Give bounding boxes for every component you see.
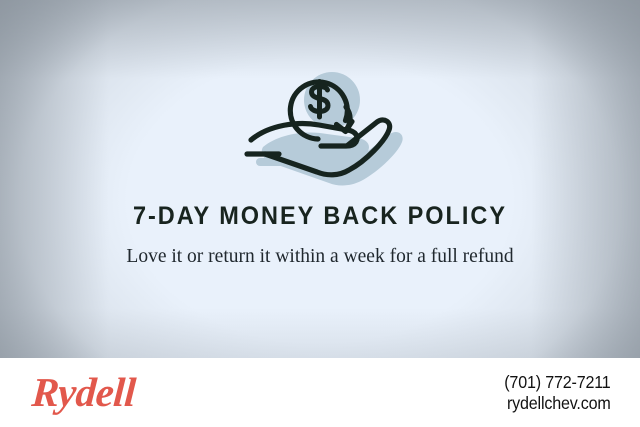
hero-panel: 7-DAY MONEY BACK POLICY Love it or retur… (0, 0, 640, 358)
website-url[interactable]: rydellchev.com (505, 393, 611, 414)
money-back-hand-icon (235, 72, 405, 190)
page-title: 7-DAY MONEY BACK POLICY (133, 204, 507, 229)
phone-number[interactable]: (701) 772-7211 (505, 372, 611, 393)
icon-container (235, 72, 405, 190)
rydell-logo[interactable]: Rydell (31, 372, 137, 413)
money-back-policy-ad-card: 7-DAY MONEY BACK POLICY Love it or retur… (0, 0, 640, 427)
footer-bar: Rydell (701) 772-7211 rydellchev.com (0, 358, 640, 427)
hero-content: 7-DAY MONEY BACK POLICY Love it or retur… (0, 0, 640, 358)
contact-block: (701) 772-7211 rydellchev.com (495, 372, 611, 413)
subtitle-text: Love it or return it within a week for a… (120, 244, 520, 270)
